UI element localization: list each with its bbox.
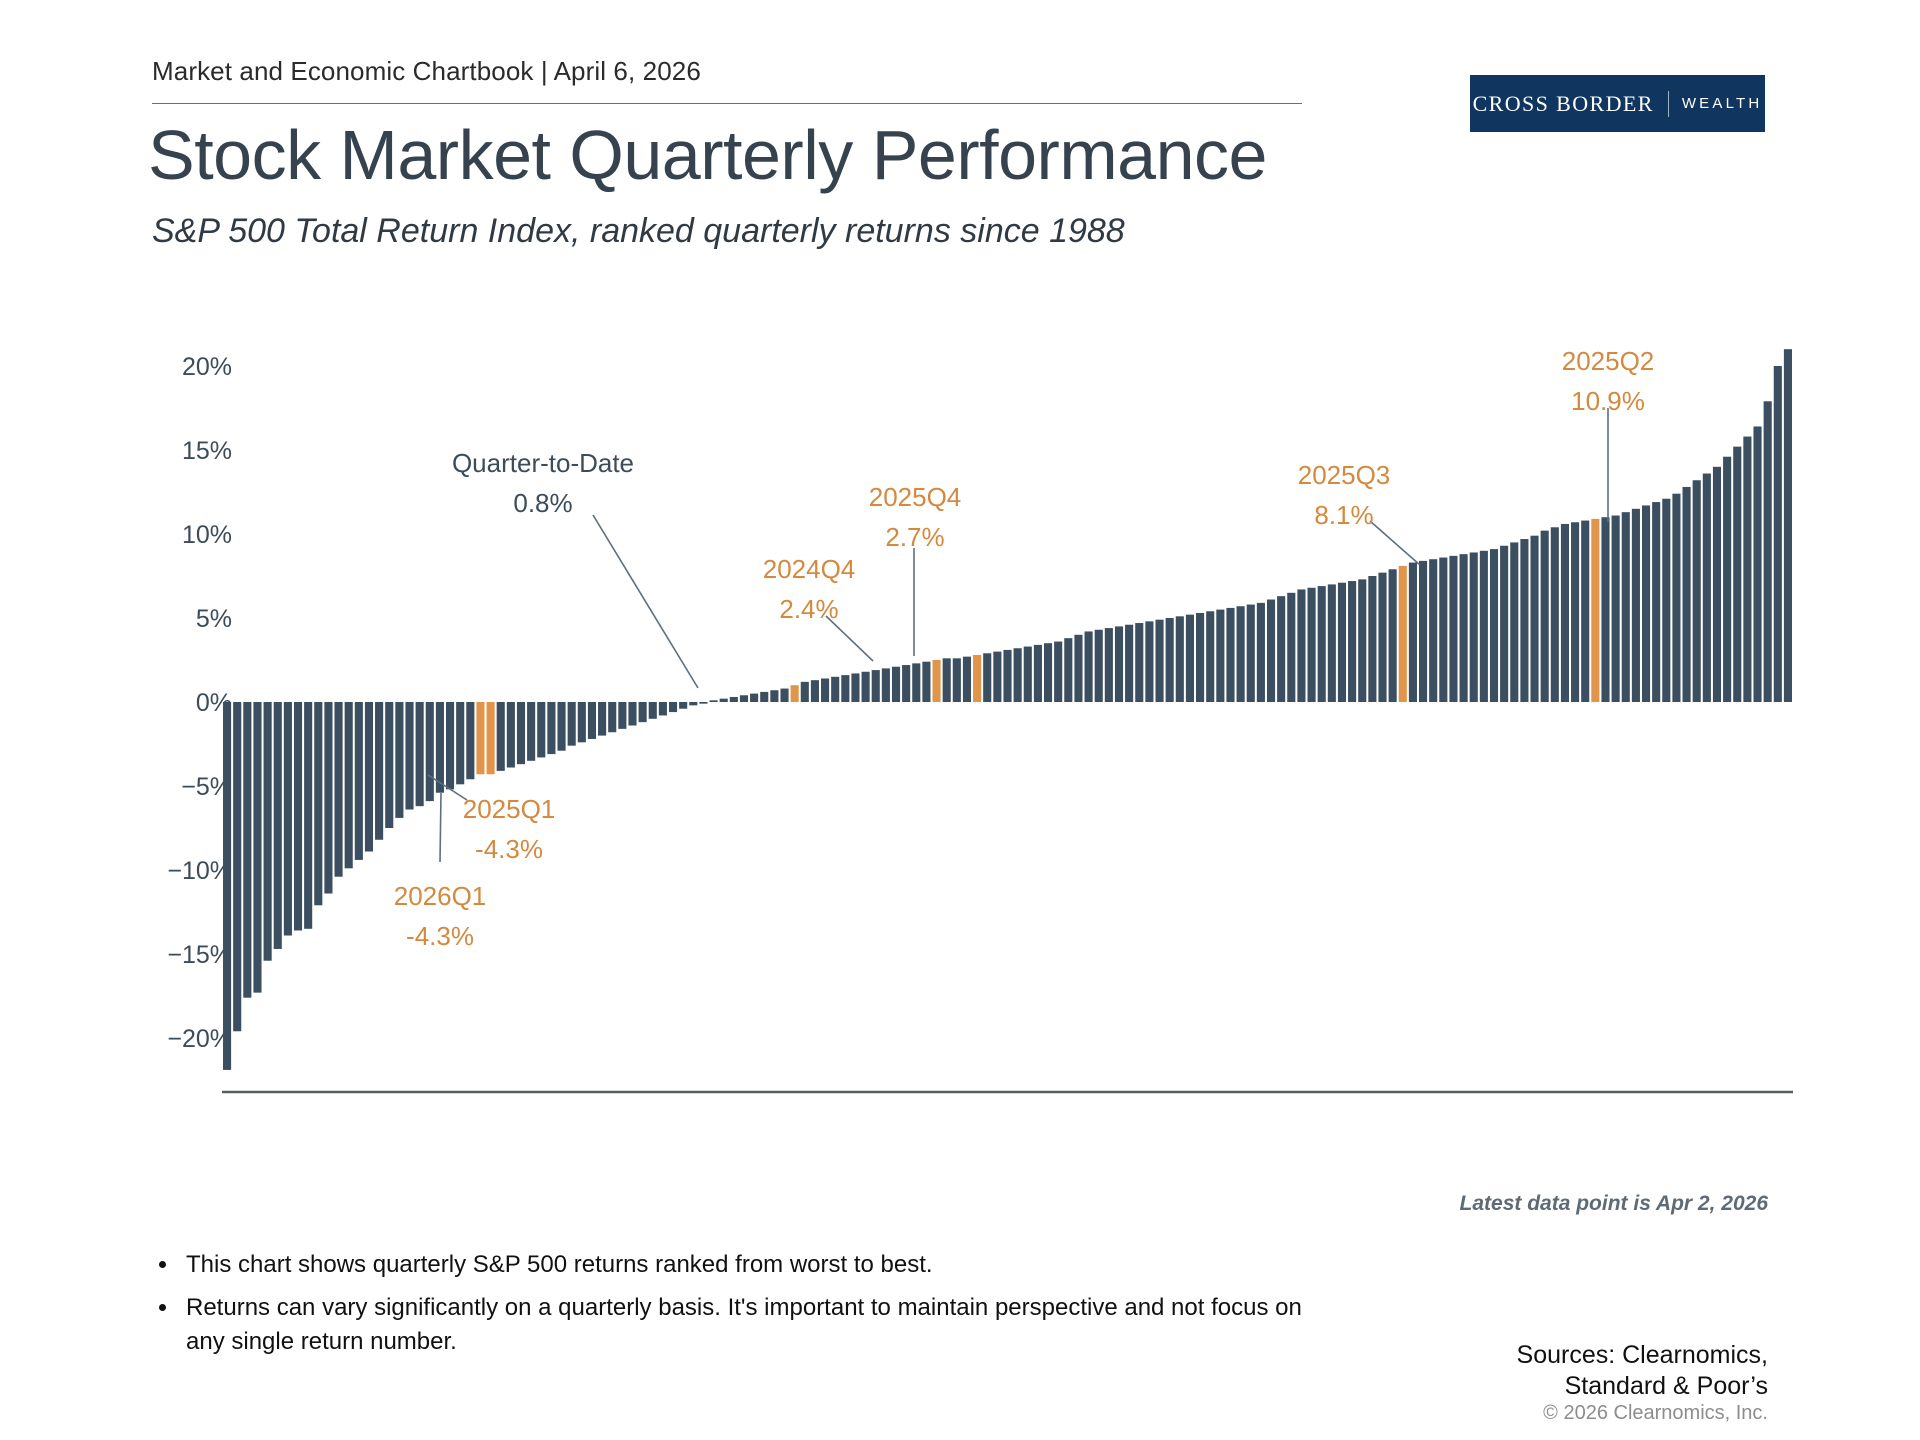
bar bbox=[993, 652, 1001, 702]
bar bbox=[1541, 531, 1549, 702]
bar bbox=[639, 702, 647, 722]
bar bbox=[1490, 549, 1498, 702]
annotation-value: 2.7% bbox=[885, 522, 944, 552]
bar bbox=[649, 702, 657, 719]
annotation-value: 0.8% bbox=[513, 488, 572, 518]
list-item: Returns can vary significantly on a quar… bbox=[180, 1291, 1332, 1359]
bar bbox=[405, 702, 413, 810]
bar bbox=[355, 702, 363, 860]
bar bbox=[801, 682, 809, 702]
bar bbox=[446, 702, 454, 789]
bar bbox=[233, 702, 241, 1031]
bar bbox=[791, 685, 799, 702]
annotation-leader-line bbox=[1370, 521, 1420, 565]
page-subtitle: S&P 500 Total Return Index, ranked quart… bbox=[152, 212, 1125, 251]
bar bbox=[1297, 589, 1305, 702]
bar bbox=[608, 702, 616, 732]
bar bbox=[466, 702, 474, 779]
bar bbox=[1014, 648, 1022, 702]
latest-data-note: Latest data point is Apr 2, 2026 bbox=[1460, 1192, 1768, 1216]
bar bbox=[1774, 366, 1782, 702]
bar bbox=[1703, 474, 1711, 702]
y-axis-tick-label: 20% bbox=[182, 353, 232, 381]
bar bbox=[1764, 401, 1772, 702]
bar bbox=[1054, 642, 1062, 702]
list-item: This chart shows quarterly S&P 500 retur… bbox=[180, 1248, 1332, 1282]
bar bbox=[1267, 600, 1275, 702]
bar bbox=[730, 697, 738, 702]
y-axis-tick-label: −15% bbox=[167, 941, 232, 969]
bar bbox=[1155, 620, 1163, 702]
commentary-bullets: This chart shows quarterly S&P 500 retur… bbox=[152, 1248, 1332, 1368]
bar bbox=[1115, 626, 1123, 702]
bar bbox=[517, 702, 525, 764]
bar bbox=[1277, 596, 1285, 702]
bar bbox=[1348, 581, 1356, 702]
bar bbox=[1672, 494, 1680, 702]
bar bbox=[1399, 566, 1407, 702]
bar bbox=[588, 702, 596, 739]
bar bbox=[456, 702, 464, 784]
bar bbox=[1237, 606, 1245, 702]
bar bbox=[1713, 467, 1721, 702]
bar bbox=[1409, 563, 1417, 702]
bar bbox=[375, 702, 383, 840]
bar bbox=[426, 702, 434, 801]
bar bbox=[1480, 551, 1488, 702]
bar bbox=[1247, 605, 1255, 702]
bar bbox=[831, 677, 839, 702]
bar bbox=[1591, 519, 1599, 702]
bar bbox=[1064, 638, 1072, 702]
bar bbox=[1510, 542, 1518, 702]
bar bbox=[1125, 625, 1133, 702]
bar bbox=[507, 702, 515, 768]
annotation-leader-line bbox=[440, 793, 441, 862]
bar bbox=[760, 692, 768, 702]
bar bbox=[1612, 516, 1620, 702]
bar bbox=[750, 694, 758, 702]
bar bbox=[537, 702, 545, 757]
bar bbox=[1003, 650, 1011, 702]
bar bbox=[922, 662, 930, 702]
y-axis-tick-label: 15% bbox=[182, 437, 232, 465]
bar bbox=[1166, 618, 1174, 702]
annotation-label: 2024Q4 bbox=[763, 554, 856, 584]
bar bbox=[943, 658, 951, 702]
bar bbox=[851, 673, 859, 702]
chart-annotations: 2026Q1-4.3%2025Q1-4.3%Quarter-to-Date0.8… bbox=[394, 346, 1655, 951]
bar bbox=[253, 702, 261, 993]
bar bbox=[1308, 588, 1316, 702]
chartbook-eyebrow: Market and Economic Chartbook | April 6,… bbox=[152, 56, 701, 87]
bar bbox=[1622, 512, 1630, 702]
bar bbox=[740, 695, 748, 702]
annotation-value: 2.4% bbox=[779, 594, 838, 624]
annotation-value: 10.9% bbox=[1571, 386, 1645, 416]
bar bbox=[1186, 615, 1194, 702]
bar bbox=[1368, 576, 1376, 702]
bar bbox=[1723, 457, 1731, 702]
bar bbox=[1530, 536, 1538, 702]
bar bbox=[1196, 613, 1204, 702]
bar bbox=[345, 702, 353, 868]
bar bbox=[1439, 558, 1447, 702]
bar bbox=[892, 667, 900, 702]
bar bbox=[1226, 608, 1234, 702]
bar bbox=[679, 702, 687, 709]
bar bbox=[1733, 447, 1741, 702]
bar bbox=[1389, 569, 1397, 702]
bar bbox=[1662, 499, 1670, 702]
bar bbox=[1044, 643, 1052, 702]
bar bbox=[598, 702, 606, 736]
bar bbox=[1581, 521, 1589, 702]
bar bbox=[1561, 524, 1569, 702]
bar bbox=[1683, 487, 1691, 702]
bar bbox=[1085, 631, 1093, 702]
y-axis-tick-label: 5% bbox=[196, 605, 232, 633]
bar bbox=[689, 702, 697, 705]
bar bbox=[1652, 502, 1660, 702]
annotation-label: 2025Q2 bbox=[1562, 346, 1655, 376]
bar bbox=[223, 702, 231, 1070]
annotation-value: -4.3% bbox=[406, 921, 474, 951]
bar bbox=[243, 702, 251, 998]
bar bbox=[568, 702, 576, 746]
bar bbox=[669, 702, 677, 712]
bar bbox=[872, 670, 880, 702]
bar bbox=[882, 668, 890, 702]
bar bbox=[1460, 554, 1468, 702]
bar bbox=[395, 702, 403, 818]
bar bbox=[821, 678, 829, 702]
bar bbox=[1693, 480, 1701, 702]
annotation-leader-line bbox=[826, 616, 873, 661]
bar bbox=[1095, 630, 1103, 702]
bar bbox=[324, 702, 332, 894]
bar bbox=[1176, 616, 1184, 702]
bar bbox=[862, 672, 870, 702]
bar bbox=[1743, 437, 1751, 702]
bar bbox=[780, 689, 788, 702]
bar bbox=[1074, 635, 1082, 702]
annotation-label: 2025Q4 bbox=[869, 482, 962, 512]
bar bbox=[487, 702, 495, 774]
y-axis-tick-label: −20% bbox=[167, 1025, 232, 1053]
bar bbox=[547, 702, 555, 754]
logo-divider bbox=[1668, 91, 1669, 117]
bar bbox=[710, 700, 718, 702]
bar bbox=[1551, 527, 1559, 702]
y-axis-tick-label: −10% bbox=[167, 857, 232, 885]
annotation-leader-line bbox=[428, 775, 467, 800]
bar bbox=[1257, 603, 1265, 702]
bars-group bbox=[223, 349, 1792, 1070]
bar bbox=[1642, 505, 1650, 702]
bar bbox=[365, 702, 373, 852]
bar bbox=[699, 702, 707, 704]
y-axis-tick-label: 0% bbox=[196, 689, 232, 717]
bar bbox=[1024, 647, 1032, 702]
bar bbox=[1753, 426, 1761, 702]
bar bbox=[1784, 349, 1792, 702]
bar bbox=[335, 702, 343, 877]
bar bbox=[1470, 552, 1478, 702]
bar bbox=[284, 702, 292, 936]
bar bbox=[557, 702, 565, 751]
bar bbox=[1145, 621, 1153, 702]
annotation-value: 8.1% bbox=[1314, 500, 1373, 530]
bar bbox=[659, 702, 667, 715]
bar bbox=[628, 702, 636, 726]
bar bbox=[841, 675, 849, 702]
bar bbox=[264, 702, 272, 961]
bar bbox=[416, 702, 424, 806]
bar bbox=[1338, 583, 1346, 702]
bar bbox=[963, 657, 971, 702]
bar bbox=[1206, 611, 1214, 702]
bar bbox=[1034, 645, 1042, 702]
copyright-text: © 2026 Clearnomics, Inc. bbox=[1543, 1402, 1768, 1425]
y-axis-tick-label: 10% bbox=[182, 521, 232, 549]
bar bbox=[1328, 584, 1336, 702]
bar bbox=[953, 658, 961, 702]
annotation-value: -4.3% bbox=[475, 834, 543, 864]
bar bbox=[1520, 539, 1528, 702]
bar bbox=[476, 702, 484, 774]
commentary-list: This chart shows quarterly S&P 500 retur… bbox=[152, 1248, 1332, 1359]
bar bbox=[1105, 628, 1113, 702]
annotation-label: Quarter-to-Date bbox=[452, 448, 634, 478]
bar bbox=[304, 702, 312, 929]
bar bbox=[912, 663, 920, 702]
bar bbox=[1571, 522, 1579, 702]
bar bbox=[578, 702, 586, 742]
logo-secondary-text: WEALTH bbox=[1682, 95, 1763, 112]
annotation-leader-line bbox=[593, 515, 698, 688]
bar bbox=[1378, 573, 1386, 702]
bar bbox=[527, 702, 535, 761]
bar bbox=[1632, 509, 1640, 702]
annotation-label: 2025Q3 bbox=[1298, 460, 1391, 490]
bar bbox=[933, 660, 941, 702]
annotation-label: 2026Q1 bbox=[394, 881, 487, 911]
bar bbox=[811, 680, 819, 702]
sources-text: Sources: Clearnomics, Standard & Poor’s bbox=[1517, 1340, 1768, 1401]
bar bbox=[618, 702, 626, 729]
bar bbox=[1287, 593, 1295, 702]
bar bbox=[1601, 517, 1609, 702]
bar bbox=[274, 702, 282, 949]
bar bbox=[720, 699, 728, 702]
bar bbox=[1500, 546, 1508, 702]
header-divider bbox=[152, 103, 1302, 104]
bar bbox=[770, 690, 778, 702]
bar bbox=[1419, 561, 1427, 702]
logo-primary-text: CROSS BORDER bbox=[1473, 91, 1654, 117]
bar bbox=[497, 702, 505, 771]
bar bbox=[294, 702, 302, 930]
annotation-label: 2025Q1 bbox=[463, 794, 556, 824]
bar bbox=[983, 653, 991, 702]
bar bbox=[314, 702, 322, 905]
y-axis-tick-labels: −20%−15%−10%−5%0%5%10%15%20% bbox=[167, 353, 232, 1053]
y-axis-tick-label: −5% bbox=[181, 773, 232, 801]
bar bbox=[1135, 623, 1143, 702]
bar bbox=[1318, 586, 1326, 702]
bar bbox=[973, 655, 981, 702]
bar bbox=[902, 665, 910, 702]
bar bbox=[1358, 579, 1366, 702]
bar bbox=[385, 702, 393, 828]
page-title: Stock Market Quarterly Performance bbox=[148, 115, 1267, 195]
bar bbox=[1449, 556, 1457, 702]
bar bbox=[1216, 610, 1224, 702]
brand-logo: CROSS BORDER WEALTH bbox=[1470, 75, 1765, 132]
bar bbox=[1429, 559, 1437, 702]
bar bbox=[436, 702, 444, 793]
